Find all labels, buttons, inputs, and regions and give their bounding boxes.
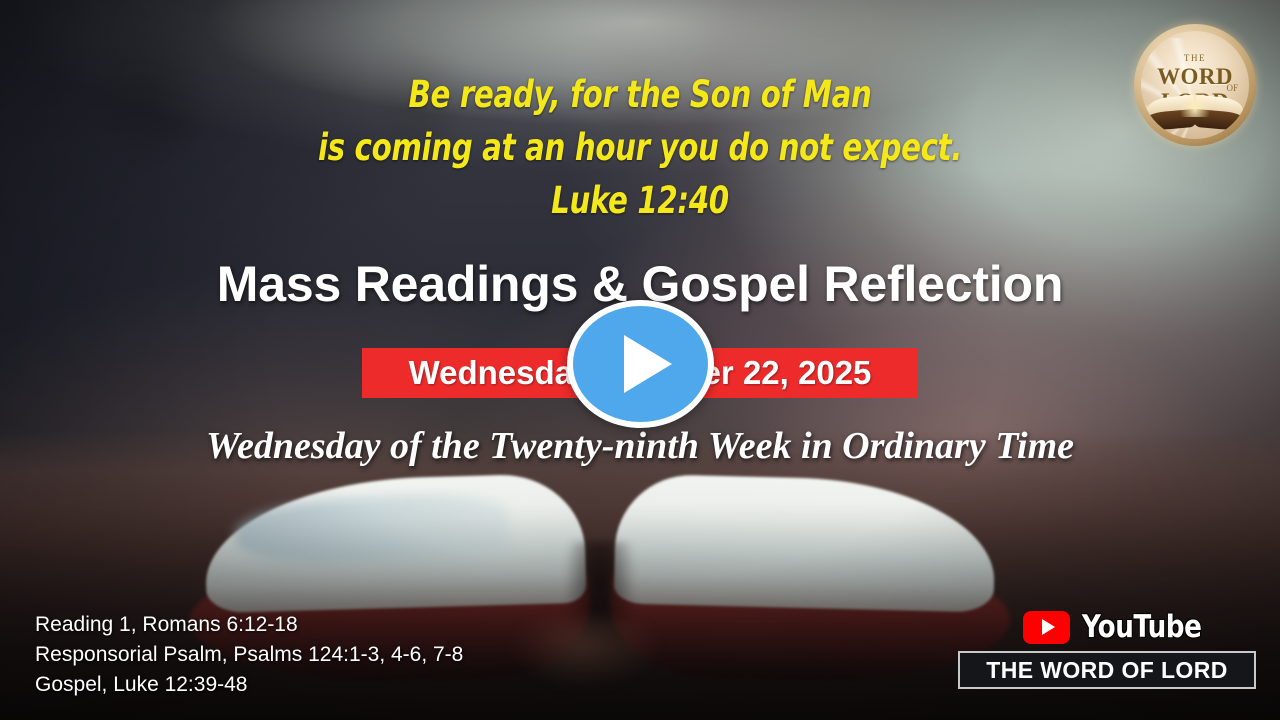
youtube-play-icon	[1023, 611, 1070, 644]
youtube-lockup: YouTube	[1023, 609, 1205, 645]
verse-line-2: is coming at an hour you do not expect.	[318, 126, 962, 169]
seal-book-glow	[1180, 91, 1210, 117]
seal-text-the: THE	[1141, 53, 1249, 63]
youtube-wordmark: YouTube	[1082, 609, 1202, 645]
play-button[interactable]	[567, 300, 714, 428]
video-thumbnail: Be ready, for the Son of Man is coming a…	[0, 0, 1280, 720]
youtube-triangle-icon	[1042, 619, 1055, 635]
readings-list: Reading 1, Romans 6:12-18 Responsorial P…	[35, 610, 463, 700]
list-item: Gospel, Luke 12:39-48	[35, 670, 463, 700]
seal-open-book-icon	[1145, 97, 1245, 131]
verse-reference: Luke 12:40	[77, 174, 1203, 227]
verse-line-1: Be ready, for the Son of Man	[408, 73, 871, 116]
play-triangle-icon	[624, 335, 672, 393]
list-item: Responsorial Psalm, Psalms 124:1-3, 4-6,…	[35, 640, 463, 670]
seal-face: THE WORD OF LORD	[1141, 31, 1249, 139]
channel-name-plate: THE WORD OF LORD	[958, 651, 1256, 689]
channel-name-label: THE WORD OF LORD	[986, 657, 1228, 684]
list-item: Reading 1, Romans 6:12-18	[35, 610, 463, 640]
scripture-verse: Be ready, for the Son of Man is coming a…	[77, 68, 1203, 227]
word-of-lord-seal-icon: THE WORD OF LORD	[1134, 24, 1256, 146]
